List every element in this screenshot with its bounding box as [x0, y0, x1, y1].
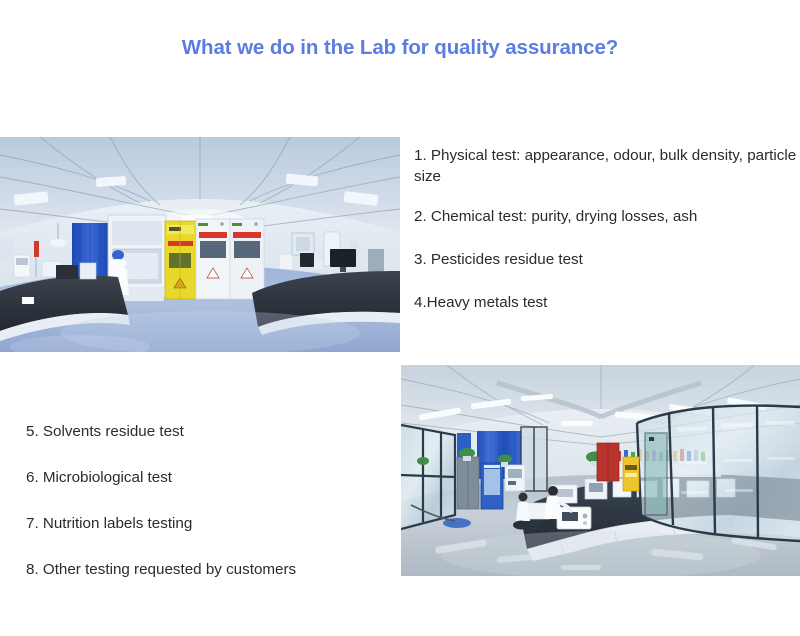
list-item-other-test: 8. Other testing requested by customers [26, 560, 396, 581]
test-list-right: 1. Physical test: appearance, odour, bul… [414, 146, 800, 336]
list-item-chemical-test: 2. Chemical test: purity, drying losses,… [414, 207, 800, 228]
list-item-nutrition-test: 7. Nutrition labels testing [26, 514, 396, 535]
list-item-physical-test: 1. Physical test: appearance, odour, bul… [414, 146, 800, 188]
test-list-bottom: 5. Solvents residue test 6. Microbiologi… [26, 422, 396, 606]
list-item-pesticides-test: 3. Pesticides residue test [414, 250, 800, 271]
list-item-heavy-metals-test: 4.Heavy metals test [414, 293, 800, 314]
page-title: What we do in the Lab for quality assura… [0, 36, 800, 60]
lab-photo-top [0, 137, 400, 352]
list-item-microbiological-test: 6. Microbiological test [26, 468, 396, 489]
lab-photo-bottom [401, 365, 800, 576]
list-item-solvents-test: 5. Solvents residue test [26, 422, 396, 443]
